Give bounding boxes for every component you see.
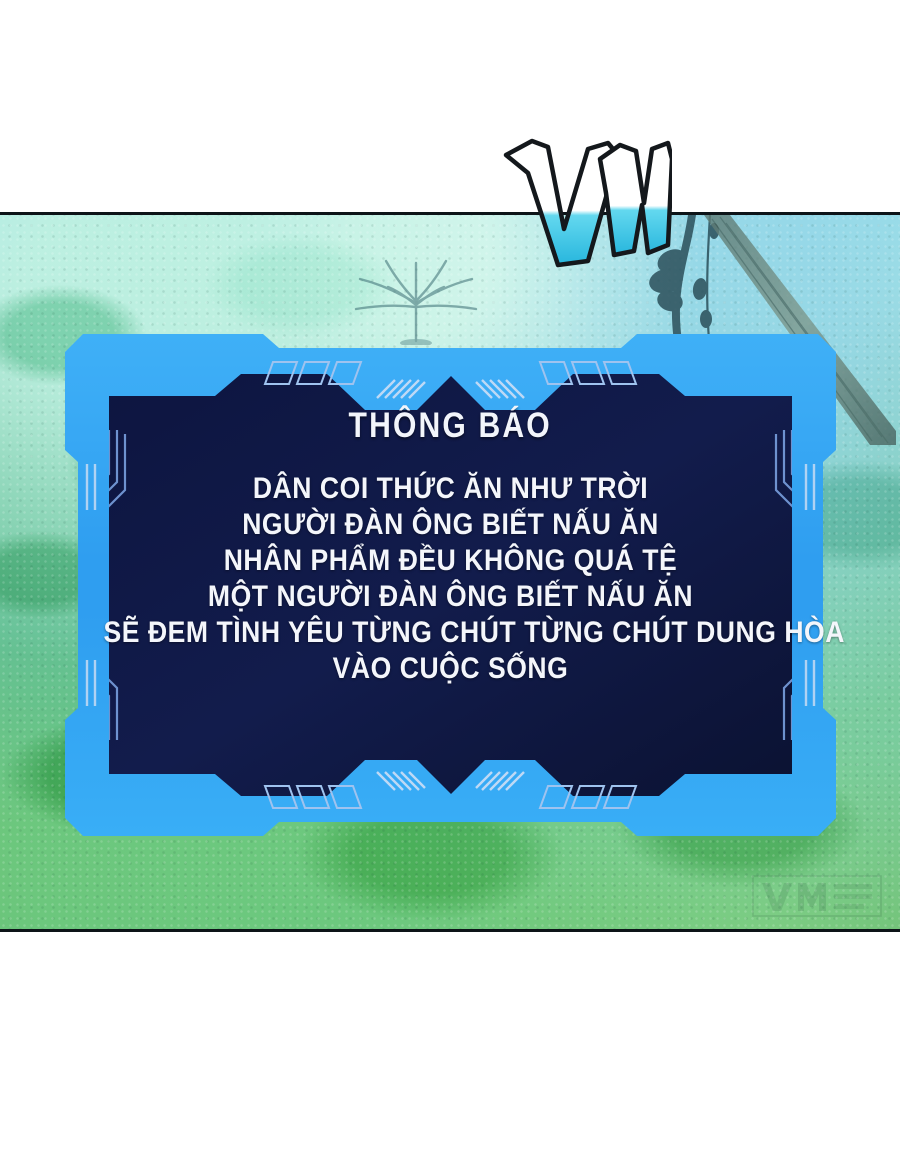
- artwork-panel: THÔNG BÁO DÂN COI THỨC ĂN NHƯ TRỜI NGƯỜI…: [0, 215, 900, 930]
- artwork-top-rule: [0, 212, 900, 215]
- artwork-bottom-rule: [0, 929, 900, 932]
- palm-plant-silhouette: [336, 255, 496, 345]
- vm-logo: [492, 133, 672, 268]
- page-margin-bottom: [0, 932, 900, 1165]
- page-margin-top: [0, 0, 900, 214]
- watermark: [752, 875, 882, 917]
- panel-interior: [109, 374, 792, 796]
- logo-letter-m: [600, 143, 672, 255]
- notice-frame-graphic: [65, 334, 836, 836]
- comic-page: THÔNG BÁO DÂN COI THỨC ĂN NHƯ TRỜI NGƯỜI…: [0, 0, 900, 1165]
- notice-dialog[interactable]: THÔNG BÁO DÂN COI THỨC ĂN NHƯ TRỜI NGƯỜI…: [65, 334, 836, 836]
